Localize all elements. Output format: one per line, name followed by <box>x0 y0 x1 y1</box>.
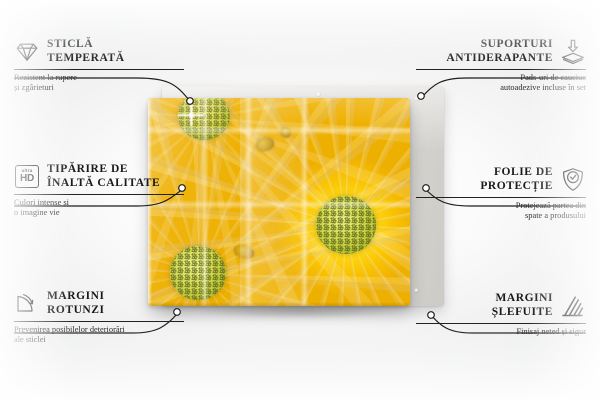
press-pad-icon <box>560 39 586 65</box>
feature-title-line1: MARGINI <box>495 292 553 304</box>
feature-header: ultra HD TIPĂRIRE DEÎNALTĂ CALITATE <box>14 163 184 190</box>
feature-title: TIPĂRIRE DEÎNALTĂ CALITATE <box>47 163 160 190</box>
glass-bevel-bottom <box>148 302 410 306</box>
feature-rounded-corners: MARGINIROTUNZI Prevenirea posibilelor de… <box>14 290 184 345</box>
feature-divider <box>416 69 586 70</box>
rubber-pad <box>414 96 419 101</box>
feature-header: STICLĂTEMPERATĂ <box>14 38 184 65</box>
feature-description: Pads-uri de cauciuc autoadezive incluse … <box>416 73 586 93</box>
feature-title-line2: TEMPERATĂ <box>47 52 125 64</box>
feature-polished-edges: MARGINIȘLEFUITE Finisaj neted și sigur <box>416 292 586 337</box>
feature-title-line1: SUPORTURI <box>481 38 553 50</box>
feature-divider <box>416 323 586 324</box>
feature-title-line1: STICLĂ <box>47 38 93 50</box>
product-infographic: STICLĂTEMPERATĂ Rezistent la rupere și z… <box>0 0 600 400</box>
sunflower-print-artwork <box>148 98 410 306</box>
feature-divider <box>14 321 184 322</box>
feature-divider <box>416 197 586 198</box>
feature-tempered-glass: STICLĂTEMPERATĂ Rezistent la rupere și z… <box>14 38 184 93</box>
feature-title-line2: ÎNALTĂ CALITATE <box>47 177 160 189</box>
feature-description: Finisaj neted și sigur <box>416 327 586 337</box>
shield-check-icon <box>560 167 586 193</box>
feature-header: SUPORTURIANTIDERAPANTE <box>416 38 586 65</box>
feature-protective-foil: FOLIE DEPROTECȚIE Protejează partea din … <box>416 166 586 221</box>
feature-title-line1: MARGINI <box>47 290 105 302</box>
feature-description: Rezistent la rupere și zgârieturi <box>14 73 184 93</box>
feature-title-line1: FOLIE DE <box>494 166 553 178</box>
feature-title: STICLĂTEMPERATĂ <box>47 38 125 65</box>
feature-title-line1: TIPĂRIRE DE <box>47 163 128 175</box>
rubber-pad <box>316 92 321 97</box>
feature-title-line2: ROTUNZI <box>47 304 105 316</box>
feature-header: MARGINIȘLEFUITE <box>416 292 586 319</box>
feature-divider <box>14 194 184 195</box>
rounded-corner-icon <box>14 291 40 317</box>
feature-header: FOLIE DEPROTECȚIE <box>416 166 586 193</box>
ultra-hd-large-label: HD <box>20 174 34 184</box>
feature-description: Protejează partea din spate a produsului <box>416 201 586 221</box>
feature-high-quality-print: ultra HD TIPĂRIRE DEÎNALTĂ CALITATE Culo… <box>14 163 184 218</box>
hatch-triangle-icon <box>560 293 586 319</box>
feature-title: SUPORTURIANTIDERAPANTE <box>446 38 553 65</box>
tempered-glass-plate <box>148 98 410 306</box>
feature-title-line2: PROTECȚIE <box>480 180 553 192</box>
ultra-hd-badge-icon: ultra HD <box>14 164 40 190</box>
product-image <box>148 86 444 312</box>
feature-title-line2: ANTIDERAPANTE <box>446 52 553 64</box>
feature-title: MARGINIROTUNZI <box>47 290 105 317</box>
feature-title: MARGINIȘLEFUITE <box>492 292 553 319</box>
feature-title: FOLIE DEPROTECȚIE <box>480 166 553 193</box>
feature-divider <box>14 69 184 70</box>
diamond-icon <box>14 39 40 65</box>
flower-center <box>316 196 376 254</box>
feature-header: MARGINIROTUNZI <box>14 290 184 317</box>
feature-description: Prevenirea posibilelor deteriorări ale s… <box>14 325 184 345</box>
feature-title-line2: ȘLEFUITE <box>492 306 553 318</box>
feature-description: Culori intense și o imagine vie <box>14 198 184 218</box>
feature-anti-slip-pads: SUPORTURIANTIDERAPANTE Pads-uri de cauci… <box>416 38 586 93</box>
